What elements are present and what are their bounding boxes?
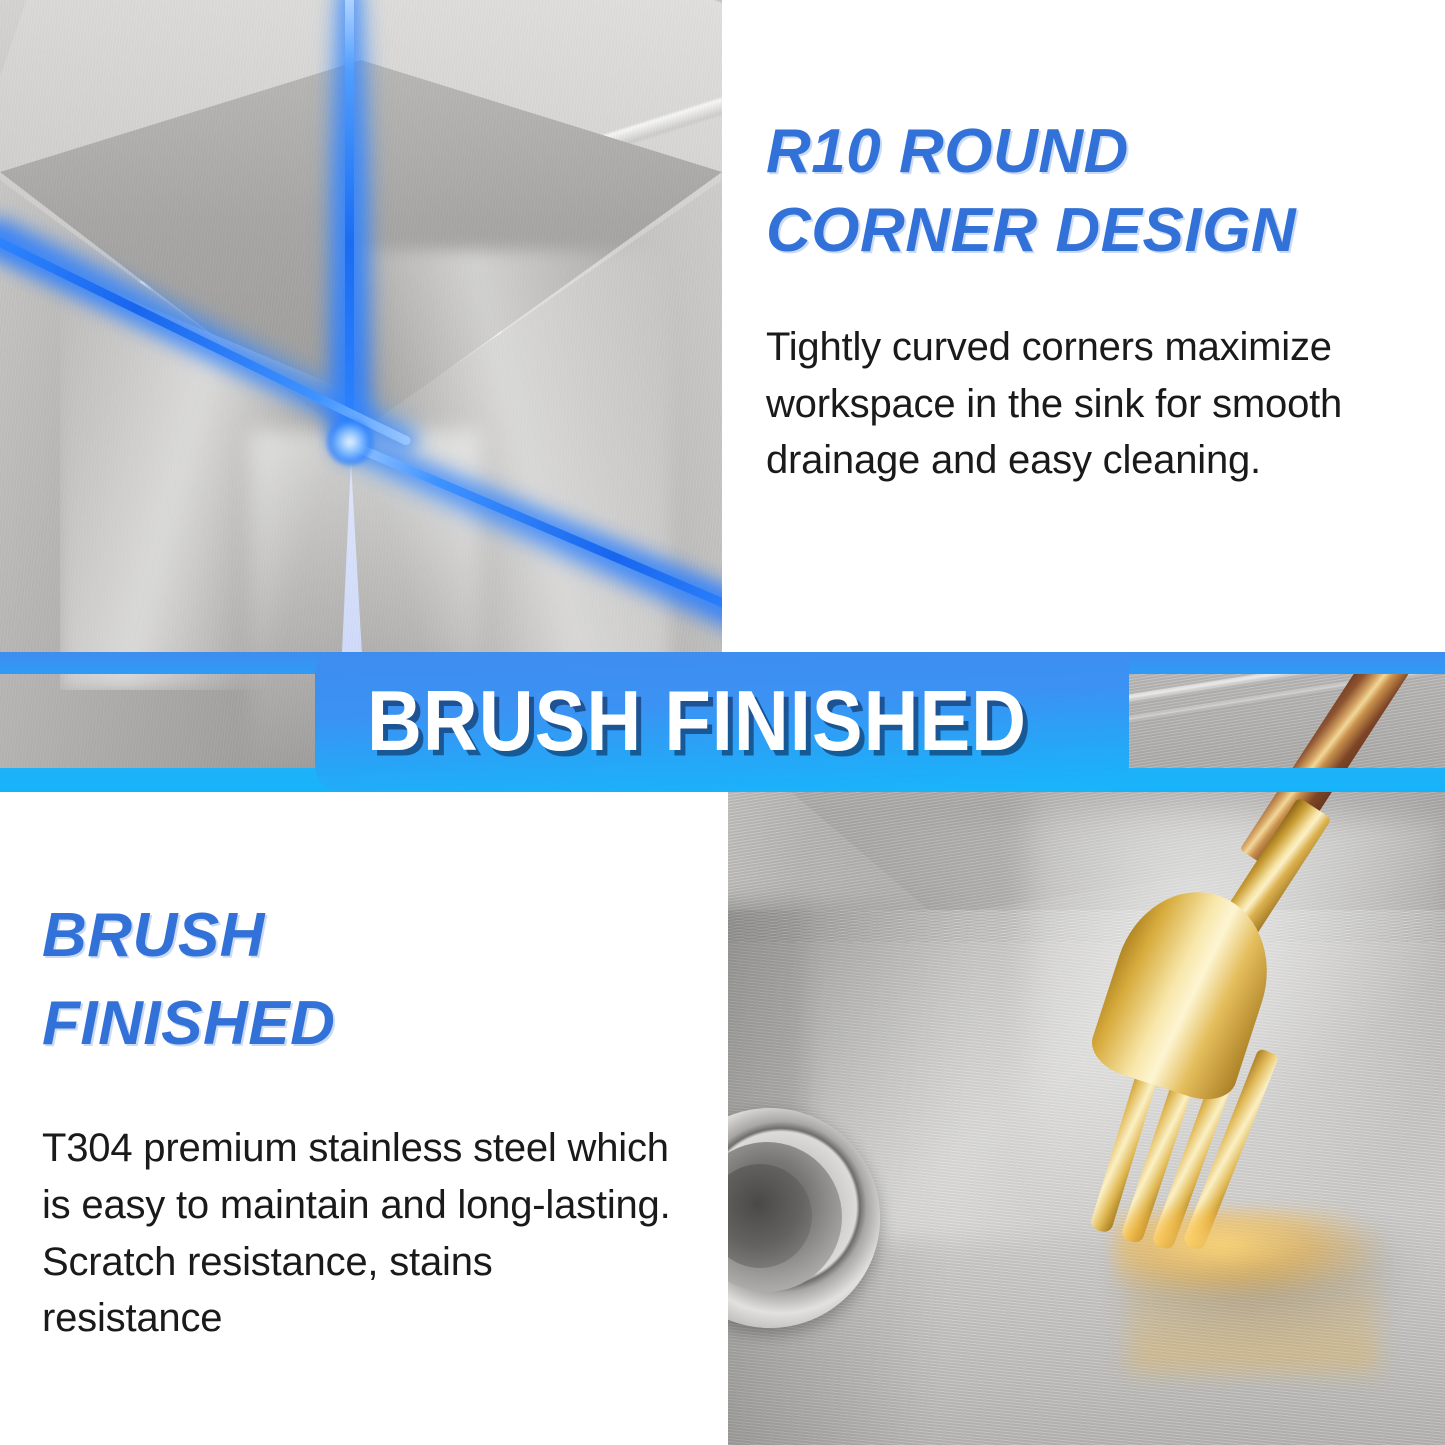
corner-seam-junction xyxy=(326,418,374,466)
round-corner-body: Tightly curved corners maximize workspac… xyxy=(766,319,1407,489)
brush-finished-body: T304 premium stainless steel which is ea… xyxy=(42,1120,676,1347)
brush-finished-banner: BRUSH FINISHED xyxy=(315,652,1129,792)
round-corner-headline: R10 ROUND CORNER DESIGN xyxy=(766,112,1407,271)
round-corner-text-panel: R10 ROUND CORNER DESIGN Tightly curved c… xyxy=(722,0,1445,652)
brush-finished-headline-line2: FINISHED xyxy=(42,980,676,1068)
brush-finished-banner-label: BRUSH FINISHED xyxy=(367,679,1027,764)
brush-finished-text-panel: BRUSH FINISHED T304 premium stainless st… xyxy=(0,792,722,1445)
fork-reflection xyxy=(1128,1232,1378,1372)
round-corner-headline-line1: R10 ROUND xyxy=(766,112,1407,191)
corner-seam-vertical xyxy=(345,0,354,450)
product-infographic: R10 ROUND CORNER DESIGN Tightly curved c… xyxy=(0,0,1445,1445)
brush-finished-headline-line1: BRUSH xyxy=(42,892,676,980)
brush-finished-headline: BRUSH FINISHED xyxy=(42,892,676,1068)
round-corner-headline-line2: CORNER DESIGN xyxy=(766,191,1407,270)
